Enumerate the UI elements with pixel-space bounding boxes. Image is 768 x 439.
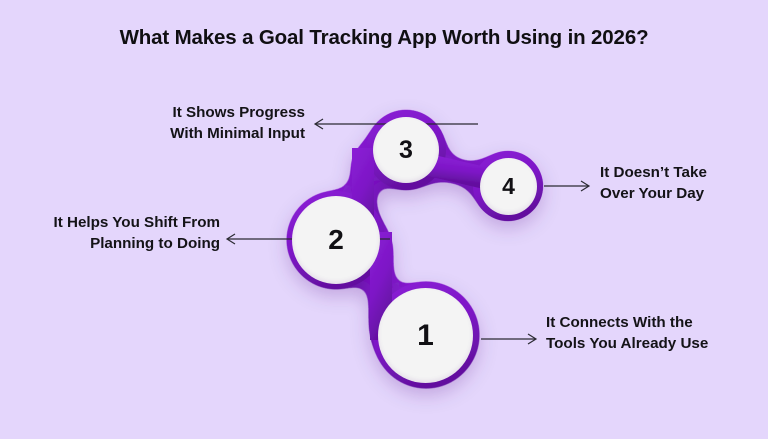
node-caption-1: It Connects With the Tools You Already U… [546, 313, 768, 354]
diagram-node-2[interactable]: 2 [292, 196, 380, 284]
diagram-node-3[interactable]: 3 [373, 117, 439, 183]
diagram-canvas: What Makes a Goal Tracking App Worth Usi… [0, 0, 768, 439]
node-number-3: 3 [399, 138, 413, 163]
node-number-1: 1 [417, 321, 434, 351]
node-number-2: 2 [328, 226, 344, 254]
node-caption-2: It Helps You Shift From Planning to Doin… [10, 213, 220, 254]
diagram-node-1[interactable]: 1 [378, 288, 473, 383]
node-number-4: 4 [502, 175, 515, 198]
node-caption-3: It Shows Progress With Minimal Input [60, 103, 305, 144]
diagram-node-4[interactable]: 4 [480, 158, 537, 215]
node-caption-4: It Doesn’t Take Over Your Day [600, 163, 768, 204]
